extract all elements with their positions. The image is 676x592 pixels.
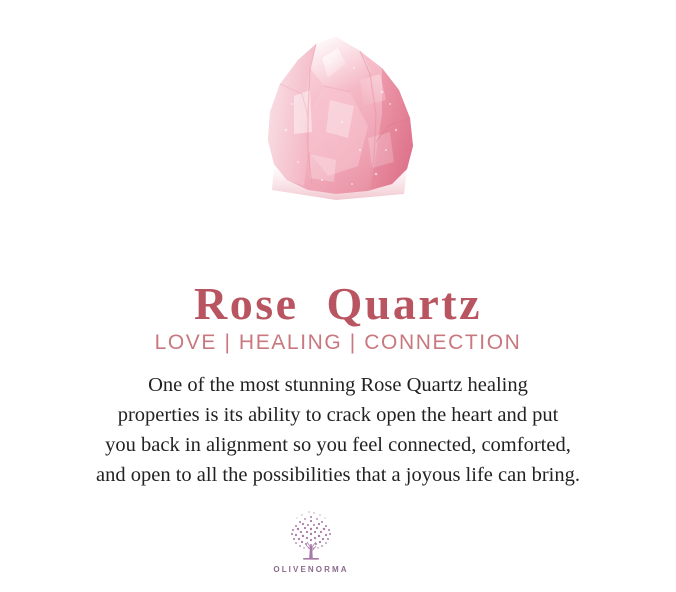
description-line: properties is its ability to crack open … — [0, 400, 676, 430]
description-line: you back in alignment so you feel connec… — [0, 430, 676, 460]
description-line: and open to all the possibilities that a… — [0, 460, 676, 490]
description-line: One of the most stunning Rose Quartz hea… — [0, 370, 676, 400]
rose-quartz-info-card: Rose Quartz LOVE | HEALING | CONNECTION … — [0, 0, 676, 592]
page-title: Rose Quartz — [0, 280, 676, 328]
tree-canopy — [291, 511, 331, 548]
tree-ground — [303, 558, 319, 560]
crystal-image-container — [0, 34, 676, 204]
brand-logo: OLIVENORMA — [0, 508, 676, 574]
tree-icon — [285, 508, 337, 564]
crystal-highlight-5 — [368, 132, 394, 168]
rose-quartz-crystal-image — [264, 34, 416, 200]
brand-name: OLIVENORMA — [273, 565, 348, 574]
keyword-subtitle: LOVE | HEALING | CONNECTION — [0, 331, 676, 355]
description-paragraph: One of the most stunning Rose Quartz hea… — [0, 370, 676, 490]
